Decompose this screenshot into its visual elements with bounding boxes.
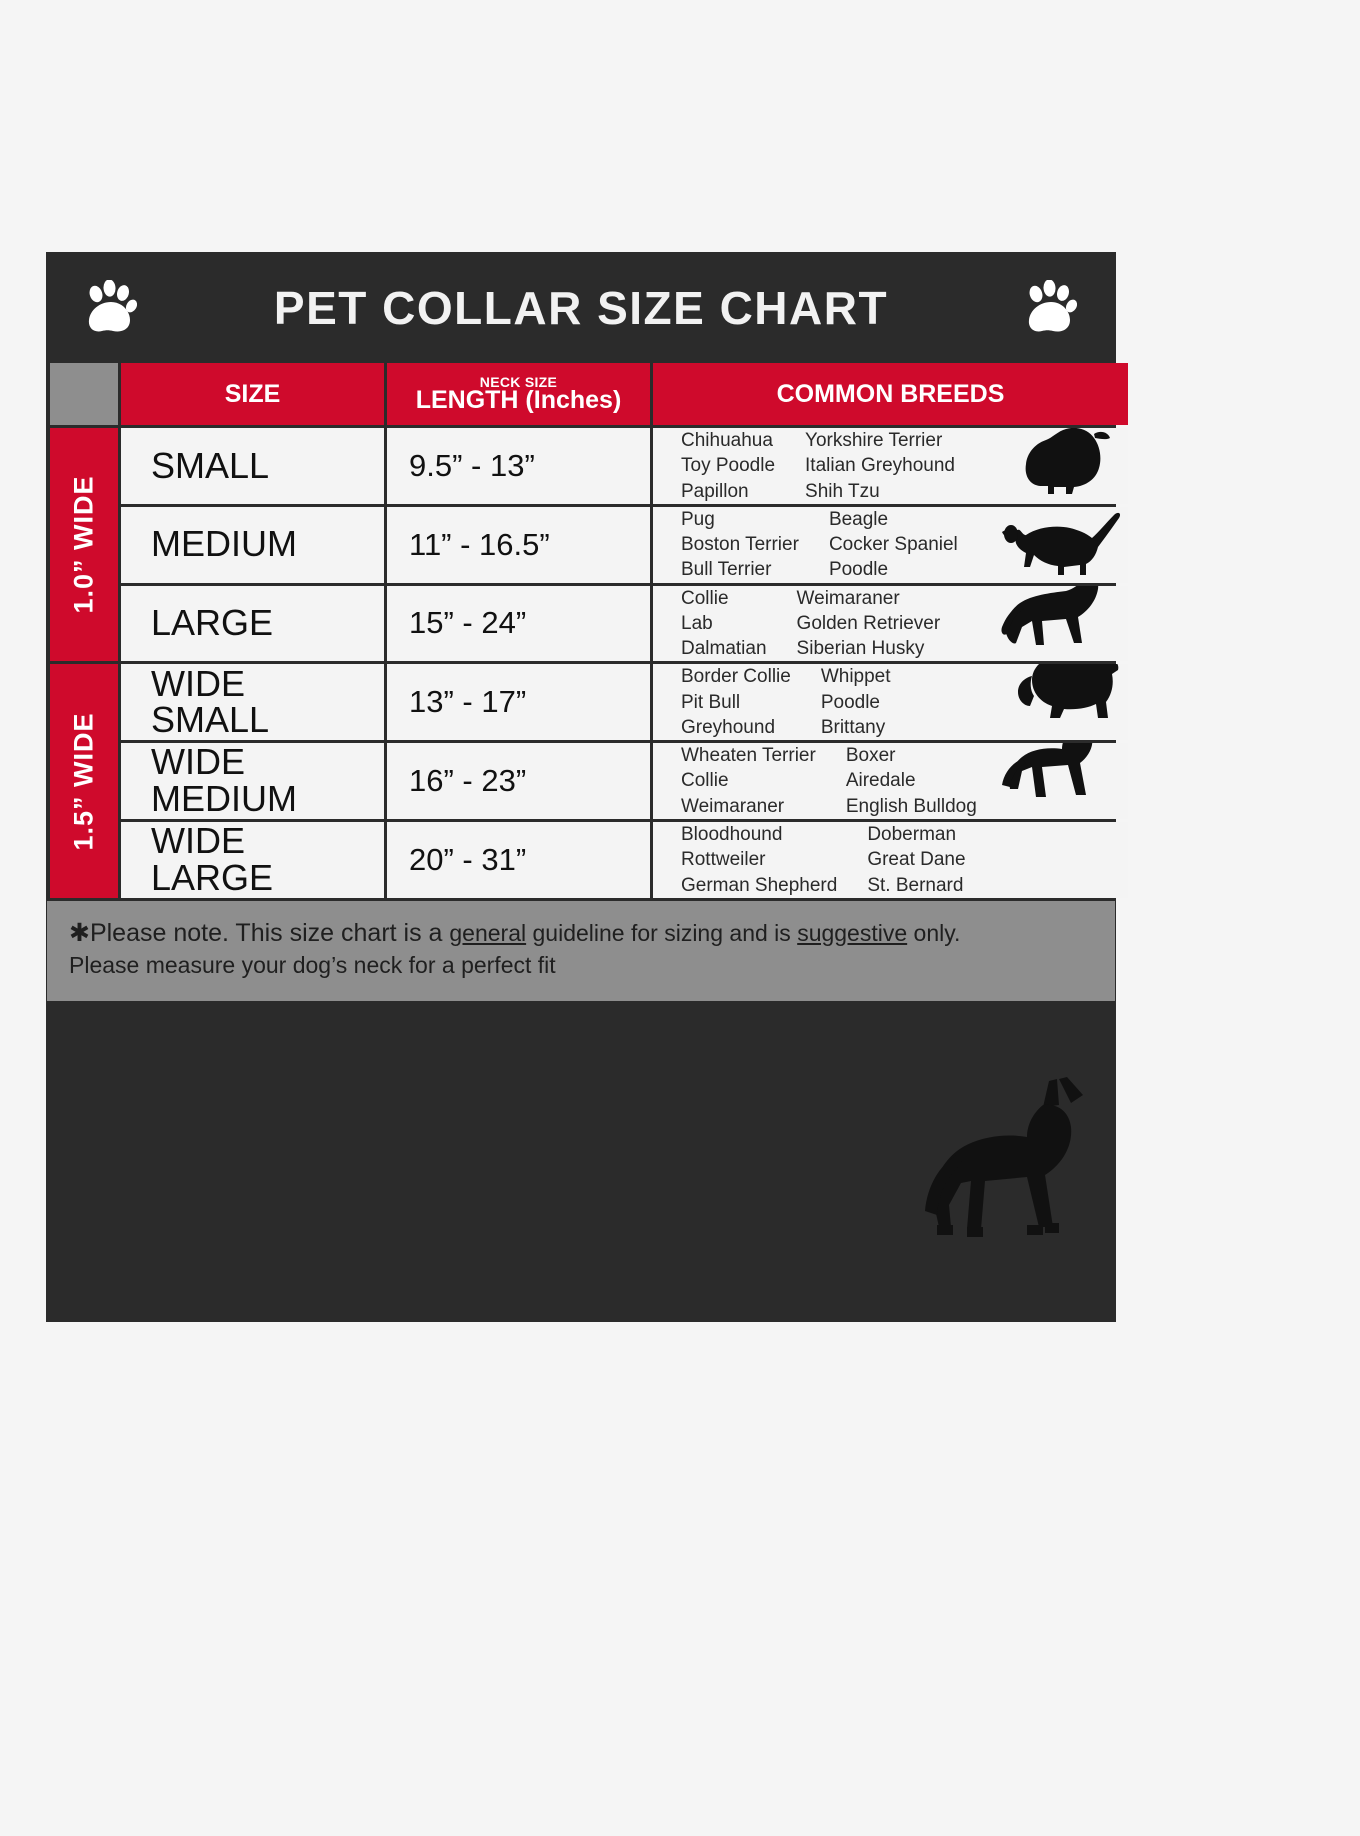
- breed-column-left: Chihuahua Toy Poodle Papillon: [681, 428, 775, 504]
- doberman-silhouette: [909, 1077, 1109, 1267]
- length-value: 20” - 31”: [387, 822, 650, 898]
- shepherd-silhouette: [996, 586, 1124, 662]
- breeds-cell: Pug Boston Terrier Bull Terrier Beagle C…: [653, 507, 1128, 583]
- length-value: 9.5” - 13”: [387, 428, 650, 504]
- table-row: LARGE: [121, 586, 384, 662]
- beagle-silhouette: [996, 507, 1124, 583]
- boxer-silhouette: [992, 743, 1124, 819]
- breed-item: Toy Poodle: [681, 453, 775, 478]
- group-label-text: 1.0” WIDE: [69, 476, 100, 614]
- breed-item: Shih Tzu: [805, 479, 955, 504]
- breed-item: Pit Bull: [681, 690, 791, 715]
- breeds-cell: Wheaten Terrier Collie Weimaraner Boxer …: [653, 743, 1128, 819]
- breed-item: Airedale: [846, 768, 977, 793]
- breed-item: Cocker Spaniel: [829, 532, 958, 557]
- breed-item: Poodle: [829, 557, 958, 582]
- page-title: PET COLLAR SIZE CHART: [274, 281, 888, 335]
- size-label-line1: WIDE: [151, 744, 297, 781]
- paw-print-icon: [85, 280, 137, 336]
- table-corner-cell: [50, 363, 118, 425]
- breed-item: English Bulldog: [846, 794, 977, 819]
- length-value: 11” - 16.5”: [387, 507, 650, 583]
- column-header-size: SIZE: [121, 363, 384, 425]
- size-label-line1: WIDE: [151, 666, 269, 703]
- length-value: 16” - 23”: [387, 743, 650, 819]
- breed-item: Siberian Husky: [797, 636, 941, 661]
- table-row: SMALL: [121, 428, 384, 504]
- breed-item: Lab: [681, 611, 767, 636]
- breeds-cell: Chihuahua Toy Poodle Papillon Yorkshire …: [653, 428, 1128, 504]
- breed-column-left: Pug Boston Terrier Bull Terrier: [681, 507, 799, 583]
- breeds-cell: Border Collie Pit Bull Greyhound Whippet…: [653, 664, 1128, 740]
- pet-collar-size-chart: PET COLLAR SIZE CHART SIZE NECK SIZE LEN…: [46, 252, 1116, 1322]
- footer-text-end: only.: [907, 920, 960, 946]
- breed-item: Weimaraner: [797, 586, 941, 611]
- breed-item: Dalmatian: [681, 636, 767, 661]
- footer-text-mid: guideline for sizing and is: [526, 920, 797, 946]
- size-label-line2: SMALL: [151, 702, 269, 739]
- breed-item: Beagle: [829, 507, 958, 532]
- breed-column-right: Boxer Airedale English Bulldog: [846, 743, 977, 819]
- breed-column-right: Doberman Great Dane St. Bernard: [867, 822, 965, 898]
- breed-column-right: Beagle Cocker Spaniel Poodle: [829, 507, 958, 583]
- column-header-common-breeds: COMMON BREEDS: [653, 363, 1128, 425]
- breed-item: Chihuahua: [681, 428, 775, 453]
- footer-underline-suggestive: suggestive: [797, 920, 907, 946]
- breed-item: Collie: [681, 768, 816, 793]
- breed-column-right: Whippet Poodle Brittany: [821, 664, 891, 740]
- breed-item: Border Collie: [681, 664, 791, 689]
- group-label-1-0-wide: 1.0” WIDE: [50, 428, 118, 661]
- breed-column-right: Weimaraner Golden Retriever Siberian Hus…: [797, 586, 941, 662]
- breed-item: Doberman: [867, 822, 965, 847]
- breeds-cell: Collie Lab Dalmatian Weimaraner Golden R…: [653, 586, 1128, 662]
- length-value: 15” - 24”: [387, 586, 650, 662]
- column-header-length-inches: LENGTH (Inches): [416, 388, 622, 413]
- breed-item: Brittany: [821, 715, 891, 740]
- chart-header: PET COLLAR SIZE CHART: [47, 253, 1115, 363]
- footer-line-1: ✱Please note. This size chart is a gener…: [69, 920, 960, 946]
- breed-item: German Shepherd: [681, 873, 837, 898]
- breed-item: Great Dane: [867, 847, 965, 872]
- breed-column-left: Collie Lab Dalmatian: [681, 586, 767, 662]
- breed-column-left: Wheaten Terrier Collie Weimaraner: [681, 743, 816, 819]
- table-row: WIDE LARGE: [121, 822, 384, 898]
- breeds-cell: Bloodhound Rottweiler German Shepherd Do…: [653, 822, 1128, 898]
- breed-item: Golden Retriever: [797, 611, 941, 636]
- footer-line-2: Please measure your dog’s neck for a per…: [69, 951, 1093, 981]
- table-row: WIDE MEDIUM: [121, 743, 384, 819]
- size-table: SIZE NECK SIZE LENGTH (Inches) COMMON BR…: [47, 363, 1115, 901]
- paw-print-icon: [1025, 280, 1077, 336]
- breed-item: Poodle: [821, 690, 891, 715]
- breed-item: Rottweiler: [681, 847, 837, 872]
- table-row: WIDE SMALL: [121, 664, 384, 740]
- column-header-length: NECK SIZE LENGTH (Inches): [387, 363, 650, 425]
- breed-item: Wheaten Terrier: [681, 743, 816, 768]
- breed-item: Boston Terrier: [681, 532, 799, 557]
- breed-item: Collie: [681, 586, 767, 611]
- size-label-line2: MEDIUM: [151, 781, 297, 818]
- group-label-text: 1.5” WIDE: [69, 712, 100, 850]
- breed-item: Yorkshire Terrier: [805, 428, 955, 453]
- breed-item: Bull Terrier: [681, 557, 799, 582]
- breed-item: St. Bernard: [867, 873, 965, 898]
- breed-item: Weimaraner: [681, 794, 816, 819]
- breed-item: Italian Greyhound: [805, 453, 955, 478]
- breed-column-right: Yorkshire Terrier Italian Greyhound Shih…: [805, 428, 955, 504]
- breed-item: Pug: [681, 507, 799, 532]
- footer-note: ✱Please note. This size chart is a gener…: [47, 901, 1115, 1001]
- bulldog-silhouette: [1004, 664, 1124, 740]
- size-label-line2: LARGE: [151, 860, 273, 897]
- breed-item: Whippet: [821, 664, 891, 689]
- small-fluffy-dog-silhouette: [1014, 428, 1124, 504]
- size-label: SMALL: [151, 448, 269, 485]
- table-row: MEDIUM: [121, 507, 384, 583]
- length-value: 13” - 17”: [387, 664, 650, 740]
- breed-item: Bloodhound: [681, 822, 837, 847]
- breed-column-left: Bloodhound Rottweiler German Shepherd: [681, 822, 837, 898]
- asterisk-icon: ✱Please note. This size chart is a: [69, 919, 449, 947]
- size-label-line1: WIDE: [151, 823, 273, 860]
- size-label: LARGE: [151, 605, 273, 642]
- breed-item: Greyhound: [681, 715, 791, 740]
- breed-item: Boxer: [846, 743, 977, 768]
- size-label: MEDIUM: [151, 526, 297, 563]
- group-label-1-5-wide: 1.5” WIDE: [50, 664, 118, 897]
- breed-column-left: Border Collie Pit Bull Greyhound: [681, 664, 791, 740]
- breed-item: Papillon: [681, 479, 775, 504]
- footer-underline-general: general: [449, 920, 526, 946]
